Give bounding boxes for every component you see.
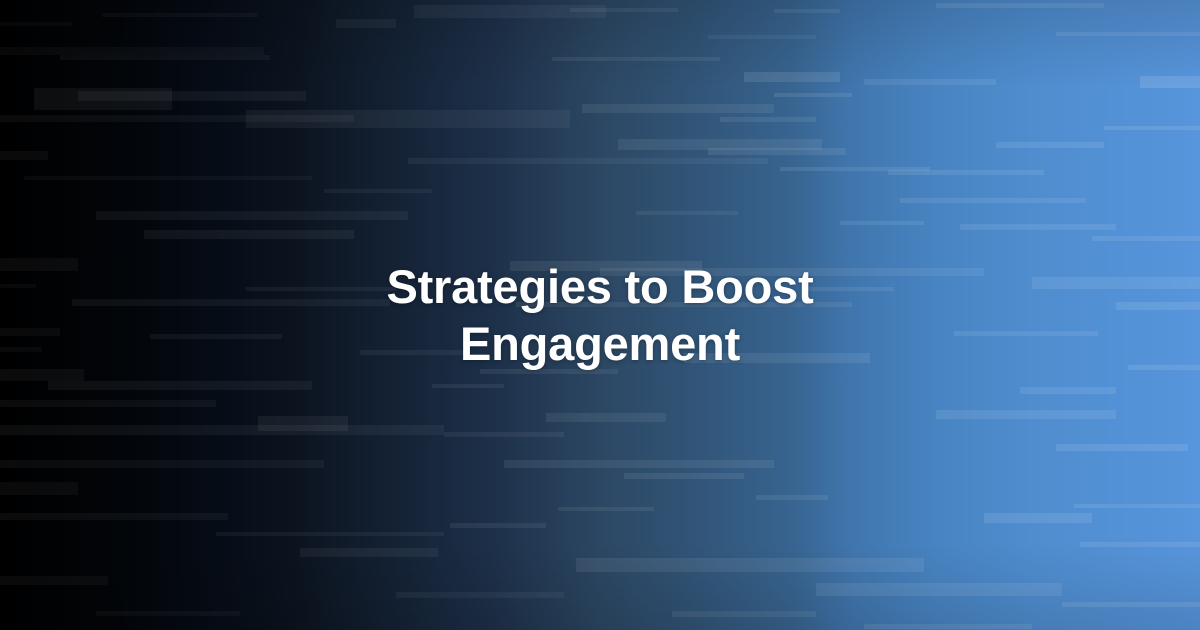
social-card-banner: Strategies to Boost Engagement: [0, 0, 1200, 630]
background-vertical-shade: [0, 0, 1200, 630]
